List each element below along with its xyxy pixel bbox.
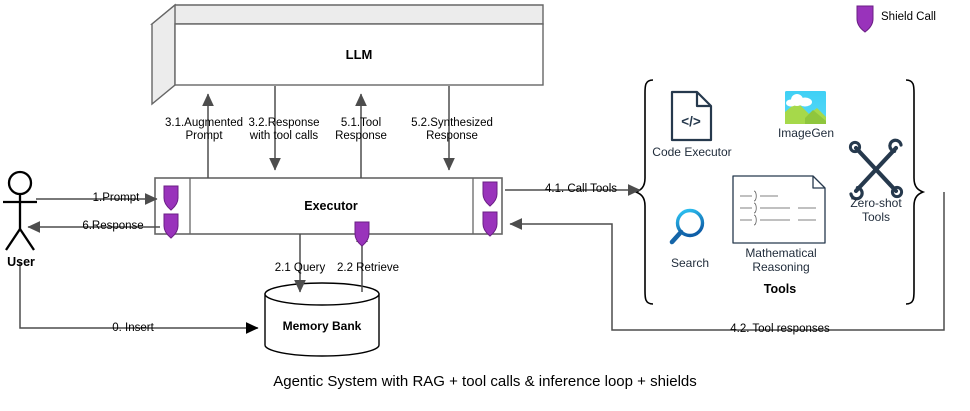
code-document-icon[interactable]: </> [672, 92, 711, 140]
tool-label-imagegen: ImageGen [768, 126, 844, 140]
user-node[interactable] [3, 172, 37, 250]
image-icon[interactable] [785, 91, 826, 124]
edge-label-1-prompt: 1.Prompt [66, 192, 166, 205]
tool-label-code-executor: Code Executor [645, 145, 739, 159]
diagram-caption: Agentic System with RAG + tool calls & i… [0, 373, 970, 390]
tools-group-label: Tools [735, 283, 825, 296]
edge-label-4-1-call-tools: 4.1. Call Tools [526, 183, 636, 196]
edge-label-5-2-synthesized-line2: Response [390, 130, 514, 143]
legend-shield-label: Shield Call [881, 11, 936, 23]
user-label: User [0, 256, 42, 269]
tools-brace-right [906, 80, 923, 304]
llm-label: LLM [309, 48, 409, 61]
edge-label-5-2-synthesized-line1: 5.2.Synthesized [390, 117, 514, 130]
svg-text:</>: </> [681, 114, 701, 129]
shield-icon-legend [857, 6, 873, 32]
edge-label-6-response: 6.Response [58, 220, 168, 233]
tools-brace-left [636, 80, 653, 304]
math-document-icon[interactable] [733, 176, 825, 243]
memory-bank-label: Memory Bank [272, 320, 372, 333]
edge-0-insert [20, 262, 258, 328]
tool-label-search: Search [659, 256, 721, 270]
diagram-svg: </> [0, 0, 970, 411]
tool-label-zero-shot-tools: Zero-shotTools [840, 196, 912, 224]
shield-icon-executor-memory [355, 222, 369, 246]
magnifier-icon[interactable] [672, 211, 703, 243]
executor-label: Executor [281, 200, 381, 213]
edge-label-0-insert: 0. Insert [78, 322, 188, 335]
diagram-canvas: </> [0, 0, 970, 411]
edge-label-4-2-tool-responses: 4.2. Tool responses [715, 323, 845, 336]
tool-label-mathematical-reasoning: MathematicalReasoning [735, 246, 827, 274]
crossed-wrenches-icon[interactable] [850, 140, 901, 198]
edge-label-2-2-retrieve: 2.2 Retrieve [322, 262, 414, 275]
